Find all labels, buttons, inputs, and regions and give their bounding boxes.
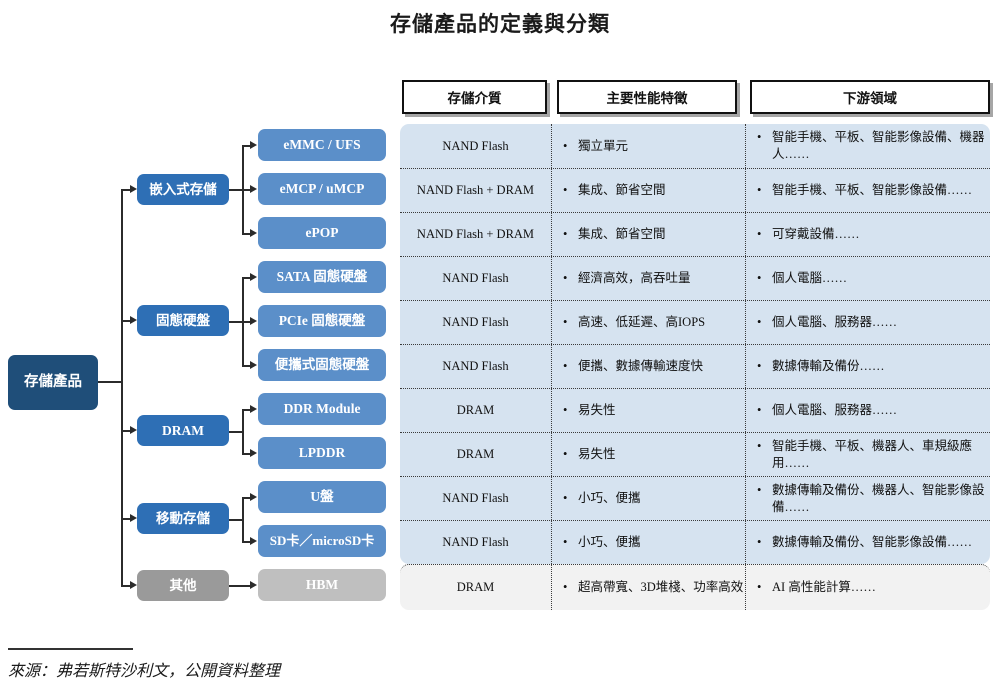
tree-node-category-ssd[interactable]: 固態硬盤 bbox=[137, 305, 229, 336]
cell-text: NAND Flash + DRAM bbox=[417, 227, 534, 242]
cell-text: 集成、節省空間 bbox=[578, 182, 666, 199]
cell-key-performance: •易失性 bbox=[551, 433, 745, 476]
tree-node-label: 存儲產品 bbox=[24, 374, 82, 391]
cell-storage-media: NAND Flash bbox=[400, 124, 551, 168]
arrow-to-product-sata bbox=[250, 273, 257, 281]
table-row[interactable]: NAND Flash •經濟高效，高吞吐量 •個人電腦…… bbox=[400, 256, 990, 300]
tree-node-label: 移動存儲 bbox=[156, 511, 210, 527]
tree-node-product-sata-ssd[interactable]: SATA 固態硬盤 bbox=[258, 261, 386, 293]
arrow-to-product-emcp bbox=[250, 185, 257, 193]
tree-node-root[interactable]: 存儲產品 bbox=[8, 355, 98, 410]
tree-node-category-removable[interactable]: 移動存儲 bbox=[137, 503, 229, 534]
cell-text: 可穿戴設備…… bbox=[772, 226, 860, 243]
tree-node-category-embedded[interactable]: 嵌入式存儲 bbox=[137, 174, 229, 205]
arrow-to-product-emmc bbox=[250, 141, 257, 149]
cell-text: 易失性 bbox=[578, 402, 616, 419]
connector-root-stub bbox=[98, 381, 122, 383]
cell-key-performance: •易失性 bbox=[551, 389, 745, 432]
cell-downstream: •AI 高性能計算…… bbox=[745, 565, 990, 610]
tree-node-product-usb-drive[interactable]: U盤 bbox=[258, 481, 386, 513]
arrow-to-category-other bbox=[130, 581, 137, 589]
tree-node-label: 便攜式固態硬盤 bbox=[275, 357, 370, 373]
tree-node-label: DDR Module bbox=[284, 401, 361, 417]
tree-node-label: eMCP / uMCP bbox=[280, 181, 365, 197]
bullet-icon: • bbox=[757, 358, 772, 375]
column-header-storage-media: 存儲介質 bbox=[402, 80, 547, 114]
cell-downstream: •智能手機、平板、機器人、車規級應用…… bbox=[745, 433, 990, 476]
arrow-to-product-sd-card bbox=[250, 537, 257, 545]
bullet-icon: • bbox=[563, 314, 578, 331]
bullet-icon: • bbox=[757, 129, 772, 146]
arrow-to-product-usb-drive bbox=[250, 493, 257, 501]
cell-storage-media: NAND Flash bbox=[400, 301, 551, 344]
tree-node-label: SATA 固態硬盤 bbox=[277, 269, 368, 285]
cell-text: 個人電腦、服務器…… bbox=[772, 402, 897, 419]
cell-text: 數據傳輸及備份、智能影像設備…… bbox=[772, 534, 972, 551]
tree-node-category-dram[interactable]: DRAM bbox=[137, 415, 229, 446]
tree-node-label: 固態硬盤 bbox=[156, 313, 210, 329]
bullet-icon: • bbox=[563, 138, 578, 155]
tree-node-label: 其他 bbox=[170, 578, 197, 594]
arrow-to-product-hbm bbox=[250, 581, 257, 589]
cell-key-performance: •小巧、便攜 bbox=[551, 477, 745, 520]
cell-downstream: •數據傳輸及備份、機器人、智能影像設備…… bbox=[745, 477, 990, 520]
cell-text: NAND Flash bbox=[442, 491, 508, 506]
cell-key-performance: •獨立單元 bbox=[551, 124, 745, 168]
cell-text: NAND Flash bbox=[442, 315, 508, 330]
tree-node-product-lpddr[interactable]: LPDDR bbox=[258, 437, 386, 469]
cell-storage-media: NAND Flash + DRAM bbox=[400, 213, 551, 256]
bullet-icon: • bbox=[757, 579, 772, 596]
column-header-label: 下游領域 bbox=[843, 87, 897, 107]
table-row[interactable]: DRAM •易失性 •個人電腦、服務器…… bbox=[400, 388, 990, 432]
bullet-icon: • bbox=[757, 226, 772, 243]
cell-text: 數據傳輸及備份、機器人、智能影像設備…… bbox=[772, 482, 990, 516]
cell-text: 智能手機、平板、智能影像設備…… bbox=[772, 182, 972, 199]
cell-text: NAND Flash + DRAM bbox=[417, 183, 534, 198]
arrow-to-category-removable bbox=[130, 514, 137, 522]
tree-node-label: SD卡／microSD卡 bbox=[270, 534, 374, 549]
bullet-icon: • bbox=[563, 402, 578, 419]
bullet-icon: • bbox=[563, 358, 578, 375]
arrow-to-product-pcie bbox=[250, 317, 257, 325]
tree-node-product-emmc-ufs[interactable]: eMMC / UFS bbox=[258, 129, 386, 161]
bullet-icon: • bbox=[563, 226, 578, 243]
bullet-icon: • bbox=[757, 182, 772, 199]
cell-storage-media: NAND Flash bbox=[400, 345, 551, 388]
spec-table: NAND Flash •獨立單元 •智能手機、平板、智能影像設備、機器人…… N… bbox=[400, 124, 990, 610]
cell-storage-media: NAND Flash bbox=[400, 521, 551, 564]
cell-key-performance: •集成、節省空間 bbox=[551, 169, 745, 212]
connector-branch-ssd-stub bbox=[229, 321, 243, 323]
cell-text: 易失性 bbox=[578, 446, 616, 463]
column-header-downstream: 下游領域 bbox=[750, 80, 990, 114]
cell-key-performance: •小巧、便攜 bbox=[551, 521, 745, 564]
table-row[interactable]: NAND Flash + DRAM •集成、節省空間 •智能手機、平板、智能影像… bbox=[400, 168, 990, 212]
bullet-icon: • bbox=[563, 270, 578, 287]
arrow-to-product-lpddr bbox=[250, 449, 257, 457]
tree-node-label: PCIe 固態硬盤 bbox=[279, 313, 366, 329]
bullet-icon: • bbox=[757, 270, 772, 287]
tree-node-label: eMMC / UFS bbox=[283, 137, 360, 153]
page-title: 存儲產品的定義與分類 bbox=[0, 8, 1000, 38]
cell-text: 小巧、便攜 bbox=[578, 490, 641, 507]
cell-text: DRAM bbox=[457, 403, 495, 418]
cell-storage-media: DRAM bbox=[400, 433, 551, 476]
column-header-key-performance: 主要性能特徵 bbox=[557, 80, 737, 114]
table-row[interactable]: DRAM •超高帶寬、3D堆棧、功率高效 •AI 高性能計算…… bbox=[400, 564, 990, 610]
connector-branch-removable-spine bbox=[242, 497, 244, 541]
cell-text: NAND Flash bbox=[442, 139, 508, 154]
column-header-label: 主要性能特徵 bbox=[607, 87, 688, 107]
cell-storage-media: NAND Flash bbox=[400, 477, 551, 520]
cell-text: 超高帶寬、3D堆棧、功率高效 bbox=[578, 579, 743, 596]
arrow-to-category-ssd bbox=[130, 316, 137, 324]
table-row[interactable]: NAND Flash •獨立單元 •智能手機、平板、智能影像設備、機器人…… bbox=[400, 124, 990, 168]
connector-branch-dram-stub bbox=[229, 431, 243, 433]
cell-text: DRAM bbox=[457, 447, 495, 462]
cell-text: 個人電腦…… bbox=[772, 270, 847, 287]
cell-downstream: •可穿戴設備…… bbox=[745, 213, 990, 256]
tree-node-product-sd-card[interactable]: SD卡／microSD卡 bbox=[258, 525, 386, 557]
connector-root-spine bbox=[121, 189, 123, 585]
connector-spine-to-category bbox=[121, 320, 130, 322]
table-row[interactable]: NAND Flash + DRAM •集成、節省空間 •可穿戴設備…… bbox=[400, 212, 990, 256]
bullet-icon: • bbox=[563, 534, 578, 551]
tree-node-product-ddr-module[interactable]: DDR Module bbox=[258, 393, 386, 425]
bullet-icon: • bbox=[563, 446, 578, 463]
table-row[interactable]: NAND Flash •便攜、數據傳輸速度快 •數據傳輸及備份…… bbox=[400, 344, 990, 388]
cell-text: AI 高性能計算…… bbox=[772, 579, 876, 596]
tree-node-product-emcp-umcp[interactable]: eMCP / uMCP bbox=[258, 173, 386, 205]
cell-key-performance: •經濟高效，高吞吐量 bbox=[551, 257, 745, 300]
cell-text: 便攜、數據傳輸速度快 bbox=[578, 358, 703, 375]
bullet-icon: • bbox=[757, 402, 772, 419]
cell-key-performance: •高速、低延遲、高IOPS bbox=[551, 301, 745, 344]
footer-divider bbox=[8, 648, 133, 650]
connector-branch-other bbox=[229, 585, 251, 587]
table-row[interactable]: NAND Flash •小巧、便攜 •數據傳輸及備份、智能影像設備…… bbox=[400, 520, 990, 564]
cell-downstream: •智能手機、平板、智能影像設備…… bbox=[745, 169, 990, 212]
cell-text: DRAM bbox=[457, 580, 495, 595]
cell-text: 智能手機、平板、機器人、車規級應用…… bbox=[772, 438, 990, 472]
tree-node-category-other[interactable]: 其他 bbox=[137, 570, 229, 601]
table-row[interactable]: DRAM •易失性 •智能手機、平板、機器人、車規級應用…… bbox=[400, 432, 990, 476]
connector-branch-dram-spine bbox=[242, 409, 244, 453]
cell-text: 集成、節省空間 bbox=[578, 226, 666, 243]
cell-downstream: •個人電腦、服務器…… bbox=[745, 389, 990, 432]
bullet-icon: • bbox=[757, 438, 772, 455]
bullet-icon: • bbox=[563, 579, 578, 596]
bullet-icon: • bbox=[757, 482, 772, 499]
tree-node-product-pcie-ssd[interactable]: PCIe 固態硬盤 bbox=[258, 305, 386, 337]
cell-downstream: •智能手機、平板、智能影像設備、機器人…… bbox=[745, 124, 990, 168]
arrow-to-category-dram bbox=[130, 426, 137, 434]
tree-node-label: 嵌入式存儲 bbox=[149, 182, 217, 198]
tree-node-label: HBM bbox=[306, 577, 338, 593]
arrow-to-category-embedded bbox=[130, 185, 137, 193]
cell-downstream: •數據傳輸及備份、智能影像設備…… bbox=[745, 521, 990, 564]
cell-key-performance: •便攜、數據傳輸速度快 bbox=[551, 345, 745, 388]
cell-storage-media: NAND Flash bbox=[400, 257, 551, 300]
connector-spine-to-category bbox=[121, 189, 130, 191]
bullet-icon: • bbox=[757, 314, 772, 331]
cell-text: 智能手機、平板、智能影像設備、機器人…… bbox=[772, 129, 990, 163]
cell-text: NAND Flash bbox=[442, 359, 508, 374]
bullet-icon: • bbox=[757, 534, 772, 551]
cell-downstream: •個人電腦、服務器…… bbox=[745, 301, 990, 344]
cell-key-performance: •超高帶寬、3D堆棧、功率高效 bbox=[551, 565, 745, 610]
connector-branch-embedded-stub bbox=[229, 189, 243, 191]
bullet-icon: • bbox=[563, 182, 578, 199]
cell-text: 數據傳輸及備份…… bbox=[772, 358, 885, 375]
arrow-to-product-portable-ssd bbox=[250, 361, 257, 369]
tree-node-label: U盤 bbox=[310, 489, 333, 505]
cell-storage-media: NAND Flash + DRAM bbox=[400, 169, 551, 212]
cell-text: 高速、低延遲、高IOPS bbox=[578, 314, 705, 331]
source-note: 來源：弗若斯特沙利文，公開資料整理 bbox=[8, 657, 280, 681]
table-row[interactable]: NAND Flash •高速、低延遲、高IOPS •個人電腦、服務器…… bbox=[400, 300, 990, 344]
cell-key-performance: •集成、節省空間 bbox=[551, 213, 745, 256]
bullet-icon: • bbox=[563, 490, 578, 507]
arrow-to-product-ddr-module bbox=[250, 405, 257, 413]
connector-branch-removable-stub bbox=[229, 519, 243, 521]
diagram-canvas: 存儲產品的定義與分類 存儲介質 主要性能特徵 下游領域 存儲產品 嵌入式存儲 固… bbox=[0, 0, 1000, 693]
arrow-to-product-epop bbox=[250, 229, 257, 237]
tree-node-label: DRAM bbox=[162, 423, 204, 439]
cell-downstream: •個人電腦…… bbox=[745, 257, 990, 300]
column-header-label: 存儲介質 bbox=[448, 87, 502, 107]
tree-node-label: LPDDR bbox=[299, 445, 346, 461]
cell-text: NAND Flash bbox=[442, 271, 508, 286]
tree-node-label: ePOP bbox=[306, 225, 339, 241]
cell-text: 小巧、便攜 bbox=[578, 534, 641, 551]
table-row[interactable]: NAND Flash •小巧、便攜 •數據傳輸及備份、機器人、智能影像設備…… bbox=[400, 476, 990, 520]
tree-node-product-portable-ssd[interactable]: 便攜式固態硬盤 bbox=[258, 349, 386, 381]
tree-node-product-hbm[interactable]: HBM bbox=[258, 569, 386, 601]
connector-spine-to-category bbox=[121, 518, 130, 520]
cell-text: 經濟高效，高吞吐量 bbox=[578, 270, 691, 287]
connector-spine-to-category bbox=[121, 585, 130, 587]
cell-text: 獨立單元 bbox=[578, 138, 628, 155]
cell-storage-media: DRAM bbox=[400, 389, 551, 432]
connector-spine-to-category bbox=[121, 430, 130, 432]
tree-node-product-epop[interactable]: ePOP bbox=[258, 217, 386, 249]
cell-text: NAND Flash bbox=[442, 535, 508, 550]
cell-storage-media: DRAM bbox=[400, 565, 551, 610]
cell-downstream: •數據傳輸及備份…… bbox=[745, 345, 990, 388]
cell-text: 個人電腦、服務器…… bbox=[772, 314, 897, 331]
